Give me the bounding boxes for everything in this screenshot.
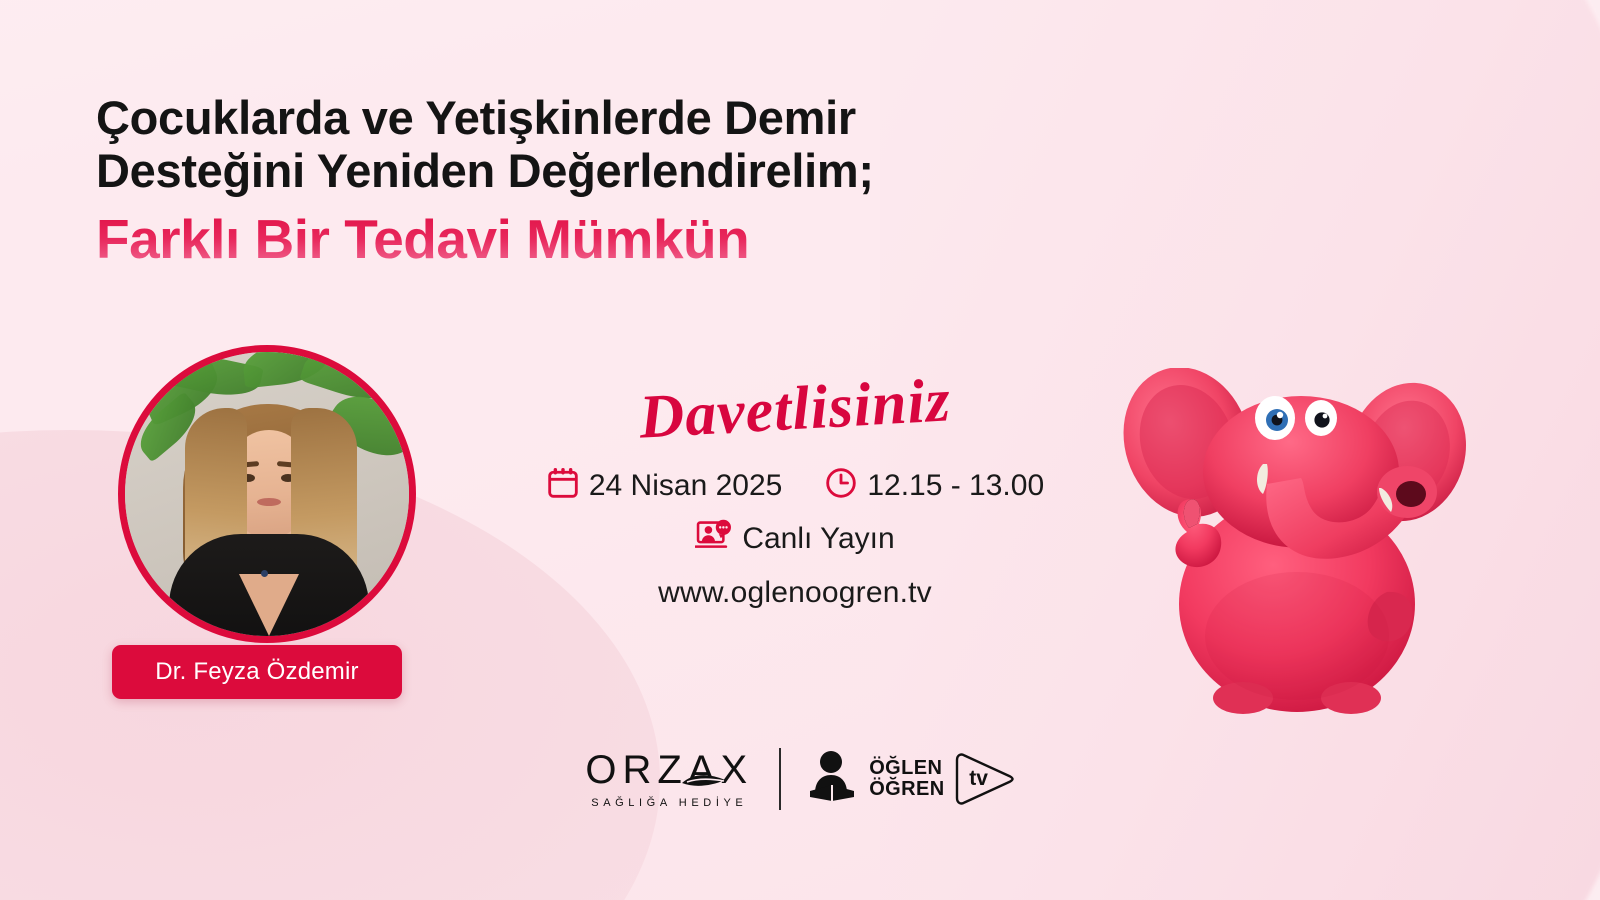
speaker-name-badge: Dr. Feyza Özdemir [112, 645, 402, 699]
oglen-ogren-text: ÖĞLEN ÖĞREN [869, 758, 944, 800]
date-item: 24 Nisan 2025 [546, 466, 782, 505]
tv-badge-label: tv [969, 767, 988, 791]
orzax-logo: ORZAX SAĞLIĞA HEDİYE [585, 750, 779, 809]
headline-line-1: Çocuklarda ve Yetişkinlerde Demir [96, 92, 956, 145]
event-details: Davetlisiniz 24 Nisan 2025 [530, 378, 1060, 610]
headline-line-3-accent: Farklı Bir Tedavi Mümkün [96, 209, 956, 271]
tv-play-badge: tv [953, 752, 1015, 806]
calendar-icon [546, 466, 580, 505]
broadcast-text: Canlı Yayın [742, 522, 894, 556]
website-url[interactable]: www.oglenoogren.tv [530, 576, 1060, 610]
speaker-photo [125, 352, 409, 636]
footer-logos: ORZAX SAĞLIĞA HEDİYE ÖĞLEN [0, 748, 1600, 810]
person-reading-book-icon [807, 749, 861, 810]
orzax-wordmark-text: ORZAX [585, 748, 753, 792]
webinar-banner: Çocuklarda ve Yetişkinlerde Demir Desteğ… [0, 0, 1600, 900]
headline-block: Çocuklarda ve Yetişkinlerde Demir Desteğ… [96, 92, 956, 271]
speaker-photo-ring [118, 345, 416, 643]
live-webinar-icon [695, 519, 733, 558]
oo-line-2: ÖĞREN [869, 779, 944, 800]
headline-line-2: Desteğini Yeniden Değerlendirelim; [96, 145, 956, 198]
date-time-row: 24 Nisan 2025 12.15 - 13.00 [530, 466, 1060, 505]
orzax-wordmark: ORZAX [585, 750, 753, 790]
broadcast-item: Canlı Yayın [695, 519, 894, 558]
pink-elephant-mascot [1115, 368, 1475, 718]
oo-line-1: ÖĞLEN [869, 758, 944, 779]
time-text: 12.15 - 13.00 [867, 469, 1044, 503]
orzax-leaf-flourish [681, 770, 727, 790]
speaker-block: Dr. Feyza Özdemir [118, 345, 408, 643]
broadcast-row: Canlı Yayın [530, 519, 1060, 558]
clock-icon [824, 466, 858, 505]
orzax-tagline: SAĞLIĞA HEDİYE [585, 797, 753, 809]
date-text: 24 Nisan 2025 [589, 469, 782, 503]
time-item: 12.15 - 13.00 [824, 466, 1044, 505]
oglen-ogren-logo: ÖĞLEN ÖĞREN tv [781, 749, 1014, 810]
